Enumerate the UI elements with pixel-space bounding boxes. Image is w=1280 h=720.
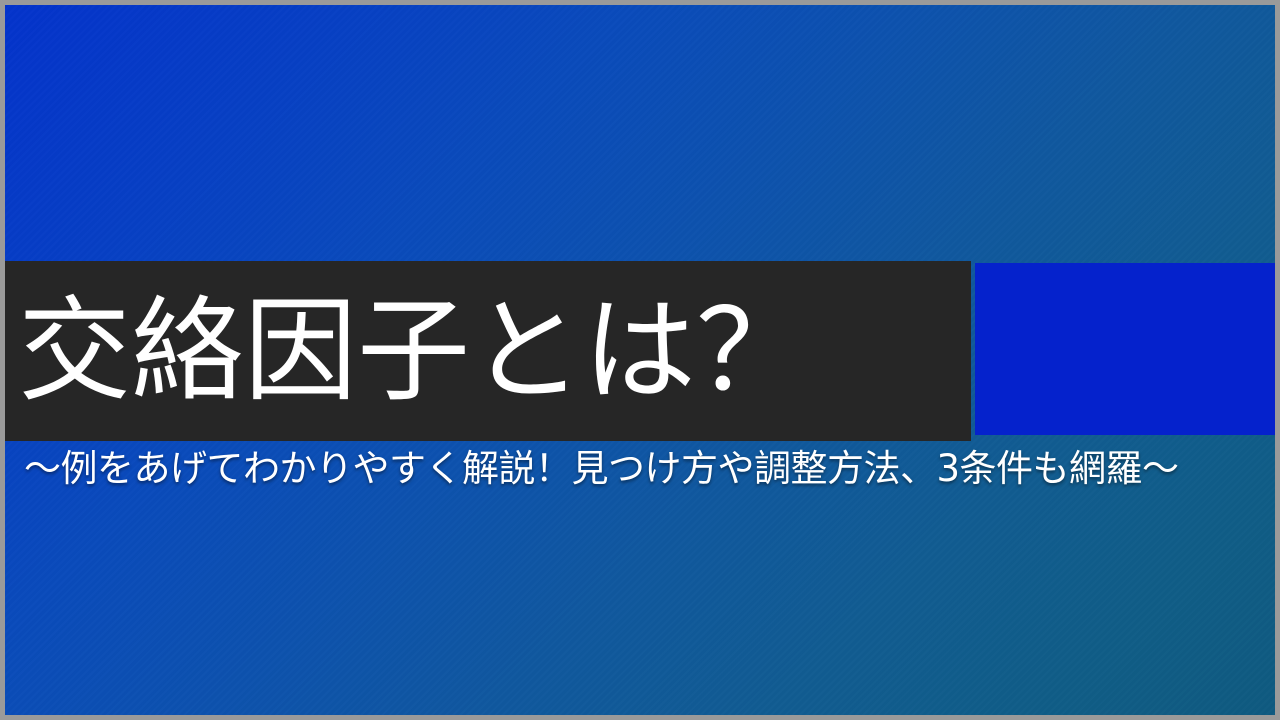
title-banner: 交絡因子とは？	[0, 261, 971, 441]
page-subtitle: 〜例をあげてわかりやすく解説！見つけ方や調整方法、3条件も網羅〜	[0, 450, 1179, 487]
subtitle-row: 〜例をあげてわかりやすく解説！見つけ方や調整方法、3条件も網羅〜	[0, 441, 1280, 495]
page-title: 交絡因子とは？	[0, 295, 809, 408]
slide-canvas: 交絡因子とは？ 〜例をあげてわかりやすく解説！見つけ方や調整方法、3条件も網羅〜	[0, 0, 1280, 720]
accent-block	[975, 263, 1280, 435]
